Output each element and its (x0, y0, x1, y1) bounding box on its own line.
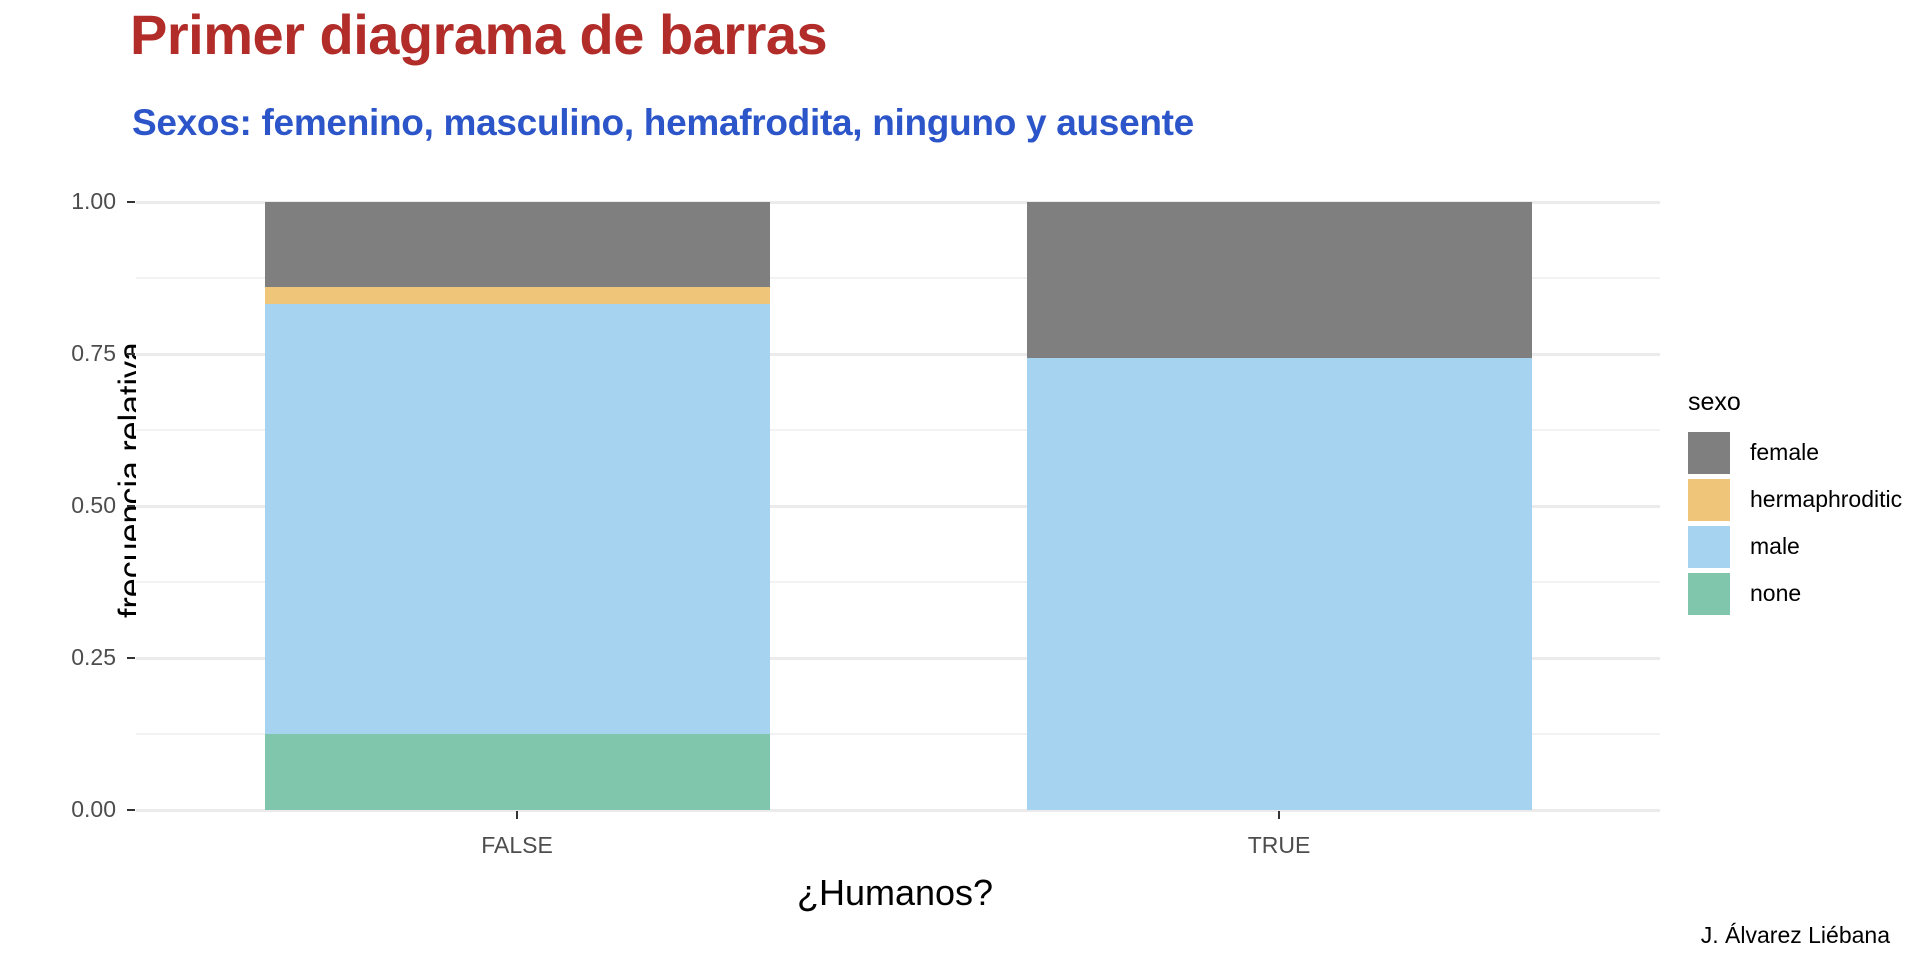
x-tick-label-false: FALSE (481, 832, 553, 859)
legend-item-none[interactable]: none (1688, 570, 1918, 617)
chart-subtitle: Sexos: femenino, masculino, hemafrodita,… (132, 104, 1194, 143)
bar-segment-female[interactable] (265, 202, 770, 287)
bar-segment-male[interactable] (265, 304, 770, 734)
x-tick-label-true: TRUE (1248, 832, 1311, 859)
legend-entries: femalehermaphroditicmalenone (1688, 429, 1918, 617)
legend-item-male[interactable]: male (1688, 523, 1918, 570)
y-tick-mark (127, 505, 135, 507)
legend-swatch-male (1688, 526, 1730, 568)
chart-figure: Primer diagrama de barras Sexos: femenin… (0, 0, 1920, 960)
legend-label: hermaphroditic (1750, 486, 1902, 513)
y-tick-label: 1.00 (71, 188, 116, 215)
chart-title: Primer diagrama de barras (130, 6, 827, 65)
y-tick-label: 0.50 (71, 492, 116, 519)
legend-swatch-hermaphroditic (1688, 479, 1730, 521)
bar-segment-hermaphroditic[interactable] (265, 287, 770, 304)
y-tick-mark (127, 201, 135, 203)
y-tick-label: 0.75 (71, 340, 116, 367)
x-axis-title: ¿Humanos? (0, 872, 1790, 914)
x-tick-mark (1278, 811, 1280, 819)
y-tick-mark (127, 809, 135, 811)
bar-segment-none[interactable] (265, 734, 770, 810)
legend-item-female[interactable]: female (1688, 429, 1918, 476)
legend-label: male (1750, 533, 1800, 560)
bar-segment-male[interactable] (1027, 358, 1532, 810)
legend-label: none (1750, 580, 1801, 607)
legend-item-hermaphroditic[interactable]: hermaphroditic (1688, 476, 1918, 523)
legend-swatch-female (1688, 432, 1730, 474)
bar-segment-female[interactable] (1027, 202, 1532, 358)
plot-panel (136, 202, 1660, 810)
y-tick-label: 0.00 (71, 796, 116, 823)
legend-label: female (1750, 439, 1819, 466)
bar-false[interactable] (265, 202, 770, 810)
y-tick-mark (127, 657, 135, 659)
chart-caption: J. Álvarez Liébana (1701, 922, 1890, 949)
y-tick-label: 0.25 (71, 644, 116, 671)
x-tick-mark (516, 811, 518, 819)
bar-true[interactable] (1027, 202, 1532, 810)
legend: sexo femalehermaphroditicmalenone (1688, 388, 1918, 617)
y-tick-mark (127, 353, 135, 355)
legend-title: sexo (1688, 388, 1918, 417)
legend-swatch-none (1688, 573, 1730, 615)
